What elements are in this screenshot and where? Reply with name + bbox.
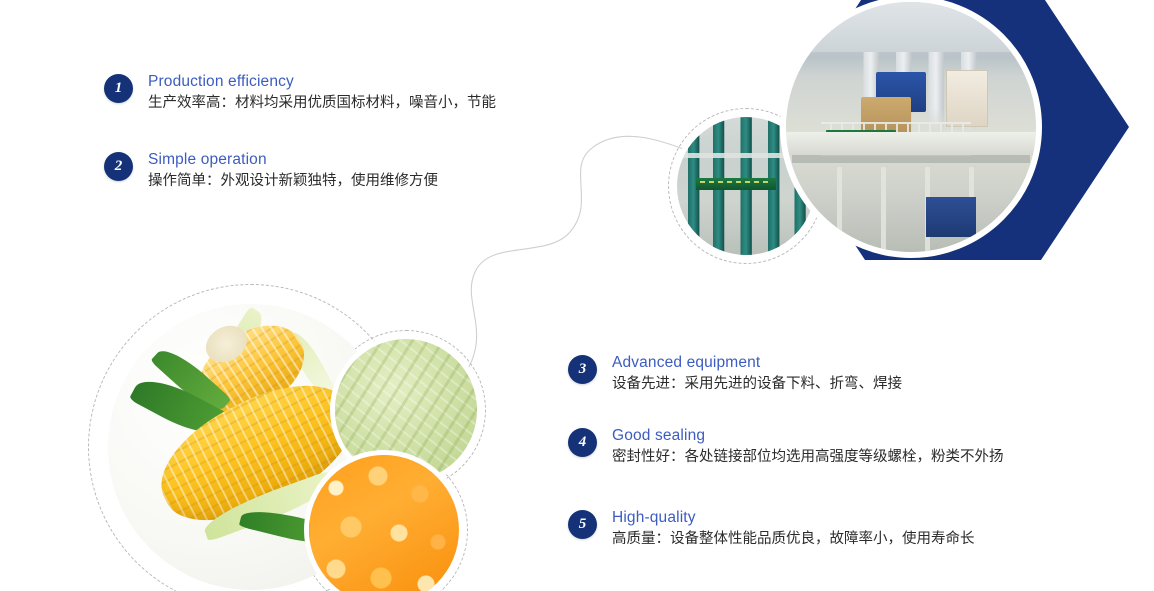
photo-flour-milling-plant-main: Large flour milling production line with…	[780, 0, 1042, 258]
advantages-infographic: Teal green grain processing machinery wi…	[0, 0, 1154, 591]
feature-title-2: Simple operation	[148, 150, 438, 169]
feature-title-3: Advanced equipment	[612, 353, 902, 372]
feature-badge-2: 2	[104, 152, 133, 181]
feature-badge-1: 1	[104, 74, 133, 103]
machine-photo-group: Teal green grain processing machinery wi…	[672, 0, 1154, 274]
feature-title-5: High-quality	[612, 508, 975, 527]
feature-item-5: 5 High-quality 高质量：设备整体性能品质优良，故障率小，使用寿命长	[568, 508, 975, 550]
feature-description-4: 密封性好：各处链接部位均选用高强度等级螺栓，粉类不外扬	[612, 446, 1004, 468]
photo-corn-grits: Orange corn grits kernels	[304, 450, 464, 591]
feature-item-3: 3 Advanced equipment 设备先进：采用先进的设备下料、折弯、焊…	[568, 353, 902, 395]
feature-badge-5: 5	[568, 510, 597, 539]
feature-title-4: Good sealing	[612, 426, 1004, 445]
corn-photo-group: Fresh yellow corn cobs with green husk l…	[82, 282, 482, 591]
feature-badge-4: 4	[568, 428, 597, 457]
feature-description-3: 设备先进：采用先进的设备下料、折弯、焊接	[612, 373, 902, 395]
feature-item-4: 4 Good sealing 密封性好：各处链接部位均选用高强度等级螺栓，粉类不…	[568, 426, 1004, 468]
feature-item-1: 1 Production efficiency 生产效率高：材料均采用优质国标材…	[104, 72, 496, 114]
feature-description-1: 生产效率高：材料均采用优质国标材料，噪音小，节能	[148, 92, 496, 114]
feature-description-5: 高质量：设备整体性能品质优良，故障率小，使用寿命长	[612, 528, 975, 550]
feature-description-2: 操作简单：外观设计新颖独特，使用维修方便	[148, 170, 438, 192]
feature-item-2: 2 Simple operation 操作简单：外观设计新颖独特，使用维修方便	[104, 150, 438, 192]
feature-title-1: Production efficiency	[148, 72, 496, 91]
feature-badge-3: 3	[568, 355, 597, 384]
